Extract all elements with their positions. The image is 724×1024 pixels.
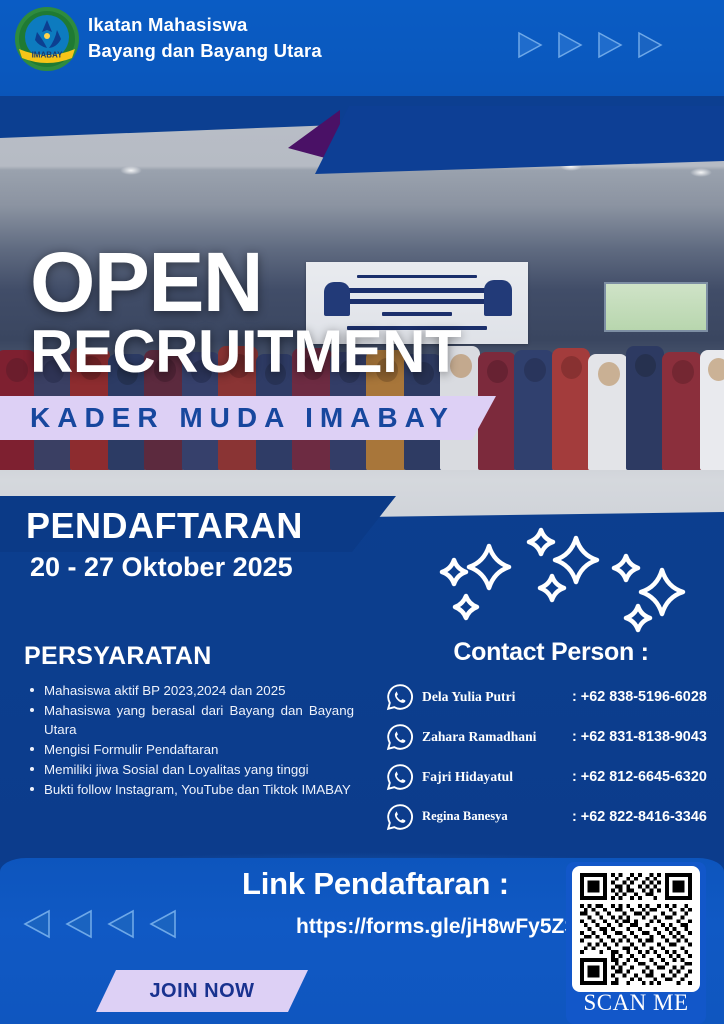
triangle-left-icon [148, 908, 178, 940]
top-arrow-decorations [516, 30, 664, 60]
triangle-right-icon [556, 30, 584, 60]
list-item: Memiliki jiwa Sosial dan Loyalitas yang … [42, 760, 354, 779]
contact-row[interactable]: Zahara Ramadhani : +62 831-8138-9043 [386, 719, 716, 754]
triangle-left-icon [64, 908, 94, 940]
contact-name: Regina Banesya [414, 809, 572, 824]
triangle-right-icon [636, 30, 664, 60]
triangle-left-icon [22, 908, 52, 940]
triangle-right-icon [516, 30, 544, 60]
list-item: Mahasiswa aktif BP 2023,2024 dan 2025 [42, 681, 354, 700]
contact-row[interactable]: Fajri Hidayatul : +62 812-6645-6320 [386, 759, 716, 794]
subtitle-banner: KADER MUDA IMABAY [0, 396, 496, 440]
contact-phone: : +62 838-5196-6028 [572, 689, 707, 705]
triangle-left-icon [106, 908, 136, 940]
logo-wordmark: IMABAY [32, 51, 63, 60]
contact-title: Contact Person : [386, 638, 716, 667]
bottom-arrow-decorations [22, 908, 178, 940]
imabay-logo: IMABAY [13, 6, 81, 74]
contact-name: Dela Yulia Putri [414, 689, 572, 705]
link-title: Link Pendaftaran : [242, 866, 509, 902]
join-now-button[interactable]: JOIN NOW [96, 970, 308, 1012]
registration-url[interactable]: https://forms.gle/jH8wFy5ZSgaN6b1cA [296, 912, 556, 942]
whatsapp-icon [386, 763, 414, 791]
organization-name: Ikatan Mahasiswa Bayang dan Bayang Utara [88, 12, 322, 64]
contact-name: Fajri Hidayatul [414, 769, 572, 785]
page-title: OPEN RECRUITMENT [30, 243, 461, 383]
triangle-right-icon [596, 30, 624, 60]
poster-root: IMABAY Ikatan Mahasiswa Bayang dan Bayan… [0, 0, 724, 1024]
headline-line-1: OPEN [30, 243, 461, 321]
contact-row[interactable]: Regina Banesya : +62 822-8416-3346 [386, 799, 716, 834]
subtitle-text: KADER MUDA IMABAY [30, 402, 455, 434]
contact-phone: : +62 831-8138-9043 [572, 729, 707, 745]
join-now-label: JOIN NOW [149, 980, 254, 1003]
requirements-title: PERSYARATAN [24, 642, 354, 671]
registration-date: 20 - 27 Oktober 2025 [30, 552, 293, 583]
contact-phone: : +62 822-8416-3346 [572, 809, 707, 825]
list-item: Mengisi Formulir Pendaftaran [42, 740, 354, 759]
whatsapp-icon [386, 683, 414, 711]
list-item: Mahasiswa yang berasal dari Bayang dan B… [42, 701, 354, 739]
org-line-2: Bayang dan Bayang Utara [88, 38, 322, 64]
qr-code-image [579, 873, 693, 985]
requirements-list: Mahasiswa aktif BP 2023,2024 dan 2025 Ma… [24, 681, 354, 799]
contact-row[interactable]: Dela Yulia Putri : +62 838-5196-6028 [386, 679, 716, 714]
scan-me-label: SCAN ME [566, 990, 706, 1016]
contact-section: Contact Person : Dela Yulia Putri : +62 … [386, 638, 716, 839]
headline-line-2: RECRUITMENT [30, 321, 461, 383]
sparkle-decorations [424, 524, 714, 636]
contact-phone: : +62 812-6645-6320 [572, 769, 707, 785]
whatsapp-icon [386, 803, 414, 831]
registration-qr-code[interactable] [572, 866, 700, 992]
list-item: Bukti follow Instagram, YouTube dan Tikt… [42, 780, 354, 799]
registration-title: PENDAFTARAN [26, 505, 303, 547]
whatsapp-icon [386, 723, 414, 751]
requirements-section: PERSYARATAN Mahasiswa aktif BP 2023,2024… [24, 642, 354, 800]
contact-name: Zahara Ramadhani [414, 729, 572, 745]
org-line-1: Ikatan Mahasiswa [88, 12, 322, 38]
